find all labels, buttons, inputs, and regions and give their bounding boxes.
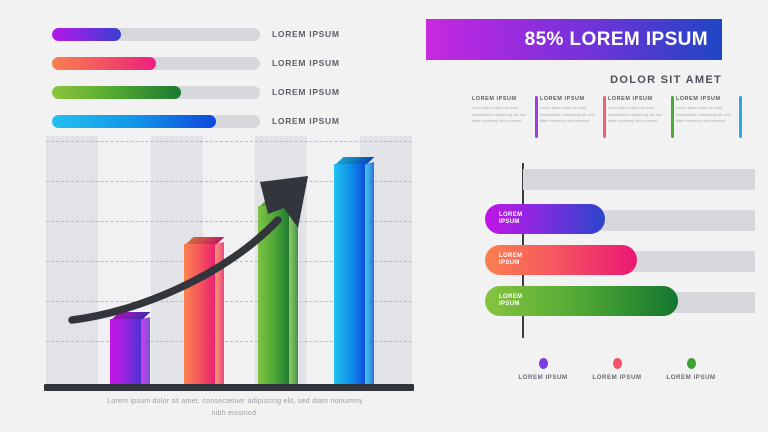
feature-body: Lorem ipsum dolor sit amet, consectetuer…: [540, 105, 603, 125]
chart-bar-face: [110, 319, 141, 387]
hero-banner: 85% LOREM IPSUM: [426, 19, 722, 60]
horizontal-bar-label: LOREM IPSUM: [485, 212, 522, 227]
progress-bar-track: [52, 28, 260, 41]
progress-bar-row: LOREM IPSUM: [52, 26, 382, 42]
progress-bar-label: LOREM IPSUM: [272, 87, 340, 97]
horizontal-bar: LOREM IPSUM: [485, 286, 678, 316]
chart-caption: Lorem ipsum dolor sit amet, consectetuer…: [100, 396, 370, 419]
feature-divider: [603, 96, 606, 138]
horizontal-bar-legend: LOREM IPSUMLOREM IPSUMLOREM IPSUM: [508, 358, 726, 381]
feature-divider: [739, 96, 742, 138]
progress-bar-track: [52, 57, 260, 70]
legend-label: LOREM IPSUM: [656, 374, 726, 381]
horizontal-bar: LOREM IPSUM: [485, 204, 605, 234]
chart-bars: [46, 136, 412, 386]
legend-item: LOREM IPSUM: [582, 358, 652, 381]
horizontal-bar-label: LOREM IPSUM: [485, 253, 522, 268]
feature-body: Lorem ipsum dolor sit amet, consectetuer…: [608, 105, 671, 125]
progress-bar-track: [52, 115, 260, 128]
legend-dot-icon: [613, 358, 622, 369]
chart-bar: [334, 164, 365, 387]
chart-bar-face: [334, 164, 365, 387]
feature-title: LOREM IPSUM: [472, 96, 535, 102]
progress-bar-fill: [52, 115, 216, 128]
progress-bar-label: LOREM IPSUM: [272, 116, 340, 126]
legend-item: LOREM IPSUM: [508, 358, 578, 381]
progress-bar-fill: [52, 86, 181, 99]
feature-divider: [671, 96, 674, 138]
feature-column: LOREM IPSUMLorem ipsum dolor sit amet, c…: [676, 96, 744, 140]
horizontal-bar-track: [523, 169, 755, 190]
feature-column: LOREM IPSUMLorem ipsum dolor sit amet, c…: [608, 96, 676, 140]
feature-columns: LOREM IPSUMLorem ipsum dolor sit amet, c…: [472, 96, 744, 140]
progress-bar-track: [52, 86, 260, 99]
feature-column: LOREM IPSUMLorem ipsum dolor sit amet, c…: [540, 96, 608, 140]
right-panel: 85% LOREM IPSUM DOLOR SIT AMET LOREM IPS…: [420, 0, 768, 432]
progress-bar-row: LOREM IPSUM: [52, 84, 382, 100]
chart-bar: [110, 319, 141, 387]
progress-bar-label: LOREM IPSUM: [272, 58, 340, 68]
legend-label: LOREM IPSUM: [582, 374, 652, 381]
chart-bar-face: [258, 206, 289, 386]
feature-body: Lorem ipsum dolor sit amet, consectetuer…: [676, 105, 739, 125]
chart-bar-side: [215, 242, 224, 386]
horizontal-bar-chart: LOREM IPSUMLOREM IPSUMLOREM IPSUM: [465, 163, 755, 338]
chart-bar-side: [141, 317, 150, 386]
progress-bar-fill: [52, 28, 121, 41]
horizontal-bar: LOREM IPSUM: [485, 245, 637, 275]
feature-title: LOREM IPSUM: [676, 96, 739, 102]
feature-title: LOREM IPSUM: [608, 96, 671, 102]
feature-column: LOREM IPSUMLorem ipsum dolor sit amet, c…: [472, 96, 540, 140]
chart-bar-side: [289, 204, 298, 386]
progress-bar-label: LOREM IPSUM: [272, 29, 340, 39]
progress-bar-list: LOREM IPSUMLOREM IPSUMLOREM IPSUMLOREM I…: [52, 26, 382, 142]
left-panel: LOREM IPSUMLOREM IPSUMLOREM IPSUMLOREM I…: [0, 0, 420, 432]
legend-dot-icon: [687, 358, 696, 369]
legend-item: LOREM IPSUM: [656, 358, 726, 381]
chart-baseline: [44, 384, 414, 391]
feature-divider: [535, 96, 538, 138]
progress-bar-fill: [52, 57, 156, 70]
chart-bar: [258, 206, 289, 386]
progress-bar-row: LOREM IPSUM: [52, 55, 382, 71]
chart-bar-face: [184, 244, 215, 387]
chart-bar-side: [365, 162, 374, 386]
legend-label: LOREM IPSUM: [508, 374, 578, 381]
horizontal-bar-label: LOREM IPSUM: [485, 294, 522, 309]
hero-subtitle: DOLOR SIT AMET: [610, 74, 722, 86]
chart-bar: [184, 244, 215, 387]
hero-title: 85% LOREM IPSUM: [525, 29, 722, 51]
legend-dot-icon: [539, 358, 548, 369]
progress-bar-row: LOREM IPSUM: [52, 113, 382, 129]
feature-title: LOREM IPSUM: [540, 96, 603, 102]
feature-body: Lorem ipsum dolor sit amet, consectetuer…: [472, 105, 535, 125]
growth-bar-chart: [46, 136, 412, 386]
